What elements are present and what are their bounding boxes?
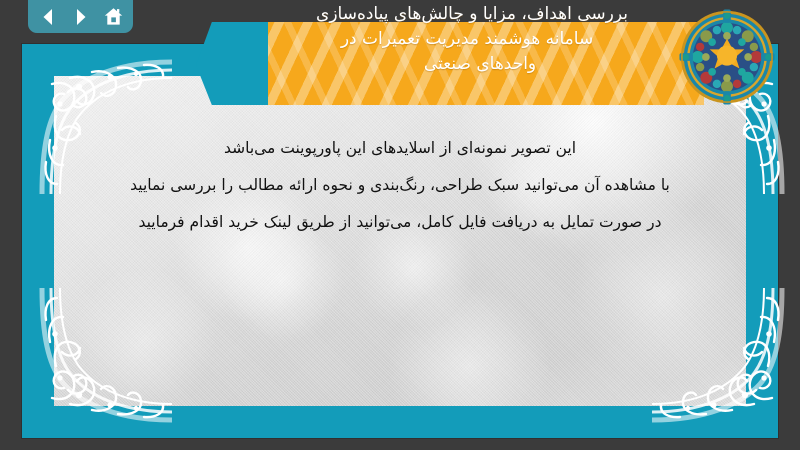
slide-title-banner: بررسی اهداف، مزایا و چالش‌های پیاده‌سازی… [196,0,704,105]
next-slide-button[interactable] [69,5,93,29]
body-line-2: با مشاهده آن می‌توانید سبک طراحی، رنگ‌بن… [54,167,746,204]
slide-title: بررسی اهداف، مزایا و چالش‌های پیاده‌سازی… [256,0,704,105]
body-line-3: در صورت تمایل به دریافت فایل کامل، می‌تو… [54,204,746,241]
persian-mandala-medallion [679,9,775,105]
slide-title-line-3: واحدهای صنعتی [424,52,536,77]
slide-body-text: این تصویر نمونه‌ای از اسلایدهای این پاور… [54,130,746,241]
home-button[interactable] [102,5,126,29]
triangle-left-icon [38,7,58,27]
body-line-1: این تصویر نمونه‌ای از اسلایدهای این پاور… [54,130,746,167]
triangle-right-icon [71,7,91,27]
previous-slide-button[interactable] [36,5,60,29]
slide-navigation-bar [28,0,133,33]
slide-title-line-1: بررسی اهداف، مزایا و چالش‌های پیاده‌سازی [316,2,628,27]
home-icon [103,6,124,27]
slide-canvas [54,76,746,406]
slide-title-line-2: سامانه هوشمند مدیریت تعمیرات در [341,27,593,52]
